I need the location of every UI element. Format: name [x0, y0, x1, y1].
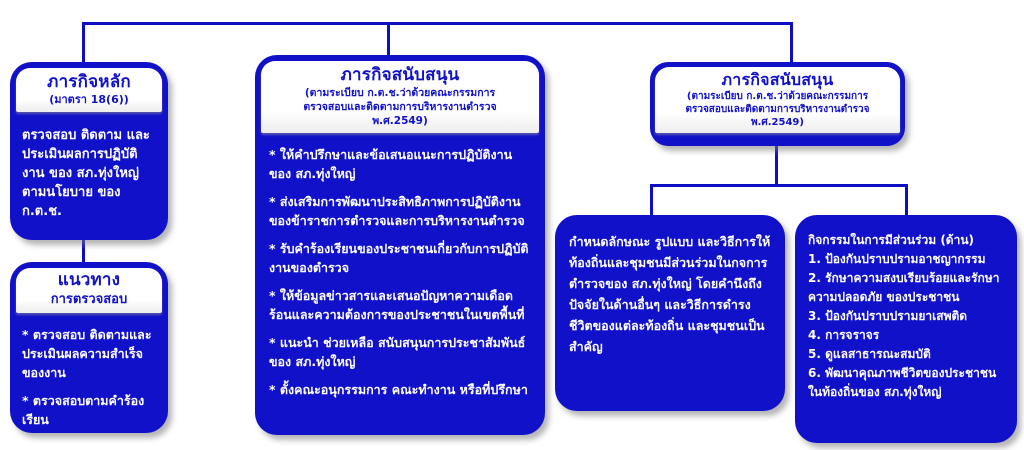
connector-to-activities — [905, 184, 908, 217]
node-support-mission-mid-body: * ให้คำปรึกษาและข้อเสนอแนะการปฏิบัติงานข… — [255, 133, 545, 411]
node-support-mission-mid-item: * ให้คำปรึกษาและข้อเสนอแนะการปฏิบัติงานข… — [269, 145, 531, 183]
node-guideline-body-line: * ตรวจสอบ ติดตามและประเมินผลความสำเร็จขอ… — [22, 325, 156, 382]
node-support-mission-mid-subtitle: (ตามระเบียบ ก.ต.ช.ว่าด้วยคณะกรรมการ ตรวจ… — [265, 86, 535, 128]
node-activities-item: 4. การจราจร — [808, 326, 1004, 345]
connector-to-local-participation — [650, 184, 653, 217]
node-guideline-body-line: * ตรวจสอบตามคำร้องเรียน — [22, 391, 156, 429]
node-guideline[interactable]: แนวทาง การตรวจสอบ * ตรวจสอบ ติดตามและประ… — [10, 262, 168, 433]
connector-top-to-support-mid — [387, 22, 390, 58]
connector-support-right-down — [775, 145, 778, 187]
node-guideline-subtitle: การตรวจสอบ — [20, 291, 158, 308]
connector-support-right-horizontal — [650, 184, 908, 187]
node-main-mission[interactable]: ภารกิจหลัก (มาตรา 18(6)) ตรวจสอบ ติดตาม … — [10, 62, 168, 240]
org-chart-canvas: ภารกิจหลัก (มาตรา 18(6)) ตรวจสอบ ติดตาม … — [0, 0, 1024, 450]
node-guideline-title: แนวทาง — [20, 270, 158, 291]
node-activities-body: กิจกรรมในการมีส่วนร่วม (ด้าน) 1. ป้องกัน… — [795, 215, 1017, 418]
node-activities-item: 5. ดูแลสาธารณะสมบัติ — [808, 345, 1004, 364]
connector-main-to-guideline — [82, 238, 85, 264]
node-support-mission-mid-item: * ให้ข้อมูลข่าวสารและเสนอปัญหาความเดือดร… — [269, 286, 531, 324]
node-main-mission-body: ตรวจสอบ ติดตาม และ ประเมินผลการปฏิบัติงา… — [10, 112, 168, 231]
connector-top-horizontal — [82, 22, 793, 25]
node-support-mission-mid-header: ภารกิจสนับสนุน (ตามระเบียบ ก.ต.ช.ว่าด้วย… — [261, 61, 539, 133]
node-guideline-body: * ตรวจสอบ ติดตามและประเมินผลความสำเร็จขอ… — [10, 313, 168, 433]
node-support-mission-mid-item: * ตั้งคณะอนุกรรมการ คณะทำงาน หรือที่ปรึก… — [269, 380, 531, 399]
node-activities-item: 3. ป้องกันปราบปรามยาเสพติด — [808, 307, 1004, 326]
node-support-mission-right-title: ภารกิจสนับสนุน — [658, 70, 897, 90]
node-activities[interactable]: กิจกรรมในการมีส่วนร่วม (ด้าน) 1. ป้องกัน… — [795, 215, 1017, 443]
node-activities-item: 6. พัฒนาคุณภาพชีวิตของประชาชนในท้องถิ่นข… — [808, 364, 1004, 402]
connector-top-to-main — [82, 22, 85, 64]
node-support-mission-mid-item: * แนะนำ ช่วยเหลือ สนับสนุนการประชาสัมพัน… — [269, 333, 531, 371]
node-main-mission-header: ภารกิจหลัก (มาตรา 18(6)) — [16, 68, 162, 112]
node-support-mission-mid-title: ภารกิจสนับสนุน — [265, 65, 535, 86]
node-activities-item: 2. รักษาความสงบเรียบร้อยและรักษาความปลอด… — [808, 269, 1004, 307]
node-main-mission-title: ภารกิจหลัก — [20, 72, 158, 93]
node-local-participation-text: กำหนดลักษณะ รูปแบบ และวิธีการให้ท้องถิ่น… — [569, 231, 771, 357]
connector-top-to-support-right — [790, 22, 793, 64]
node-support-mission-mid[interactable]: ภารกิจสนับสนุน (ตามระเบียบ ก.ต.ช.ว่าด้วย… — [255, 55, 545, 435]
node-main-mission-subtitle: (มาตรา 18(6)) — [20, 93, 158, 107]
node-activities-heading: กิจกรรมในการมีส่วนร่วม (ด้าน) — [808, 231, 1004, 250]
node-main-mission-body-line: ตรวจสอบ ติดตาม และ ประเมินผลการปฏิบัติงา… — [22, 126, 156, 221]
node-support-mission-mid-item: * รับคำร้องเรียนของประชาชนเกี่ยวกับการปฏ… — [269, 239, 531, 277]
node-support-mission-right-subtitle: (ตามระเบียบ ก.ต.ช.ว่าด้วยคณะกรรมการ ตรวจ… — [658, 90, 897, 129]
node-local-participation[interactable]: กำหนดลักษณะ รูปแบบ และวิธีการให้ท้องถิ่น… — [555, 215, 785, 411]
node-local-participation-body: กำหนดลักษณะ รูปแบบ และวิธีการให้ท้องถิ่น… — [555, 215, 785, 373]
node-support-mission-mid-item: * ส่งเสริมการพัฒนาประสิทธิภาพการปฏิบัติง… — [269, 192, 531, 230]
node-activities-item: 1. ป้องกันปราบปรามอาชญากรรม — [808, 250, 1004, 269]
node-support-mission-right-header: ภารกิจสนับสนุน (ตามระเบียบ ก.ต.ช.ว่าด้วย… — [655, 67, 900, 133]
node-support-mission-right[interactable]: ภารกิจสนับสนุน (ตามระเบียบ ก.ต.ช.ว่าด้วย… — [650, 62, 905, 146]
node-guideline-header: แนวทาง การตรวจสอบ — [16, 268, 162, 313]
